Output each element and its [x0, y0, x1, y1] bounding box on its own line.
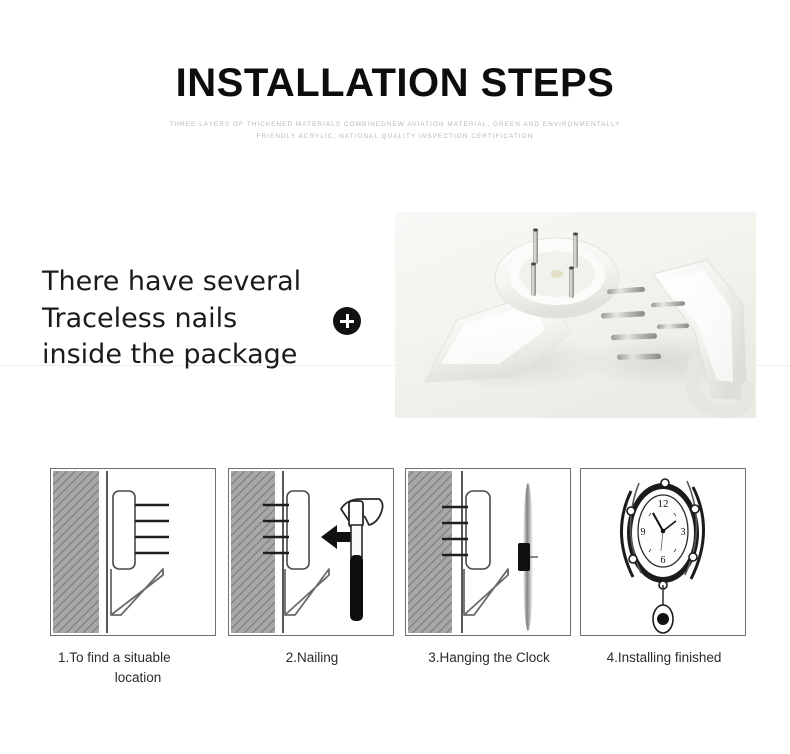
step-3-figure	[405, 468, 571, 636]
step-4-figure: 12 3 6 9	[580, 468, 746, 636]
page-header: INSTALLATION STEPS THREE LAYERS OF THICK…	[0, 62, 790, 143]
pendulum-wall-clock-icon: 12 3 6 9	[581, 469, 745, 635]
clock-side-view-hanging-icon	[406, 469, 570, 635]
page-title: INSTALLATION STEPS	[0, 62, 790, 104]
traceless-nails-photo-illustration	[395, 212, 756, 418]
wall-with-nail-plate-icon	[51, 469, 215, 635]
step-1-caption-line-1: 1.To find a situable	[58, 648, 218, 668]
product-photo	[395, 212, 756, 418]
subtitle-block: THREE LAYERS OF THICKENED MATERIALS COMB…	[0, 119, 790, 143]
step-1-figure	[50, 468, 216, 636]
step-1-caption: 1.To find a situable location	[50, 648, 218, 687]
step-3: 3.Hanging the Clock	[405, 468, 573, 668]
step-2-caption: 2.Nailing	[228, 648, 396, 668]
step-3-caption: 3.Hanging the Clock	[405, 648, 573, 668]
clock-numeral-3: 3	[681, 527, 686, 538]
step-1-caption-line-2: location	[58, 668, 218, 688]
step-4: 12 3 6 9	[580, 468, 748, 668]
step-4-caption: 4.Installing finished	[580, 648, 748, 668]
clock-numeral-6: 6	[661, 555, 666, 566]
installation-steps-row: 1.To find a situable location	[0, 468, 790, 683]
step-2-figure	[228, 468, 394, 636]
promo-text: There have several Traceless nails insid…	[42, 264, 332, 374]
hammer-driving-nails-icon	[229, 469, 393, 635]
clock-numeral-9: 9	[641, 527, 646, 538]
step-2: 2.Nailing	[228, 468, 396, 668]
promo-line-3: inside the package	[42, 337, 332, 374]
subtitle-line-2: FRIENDLY ACRYLIC, NATIONAL QUALITY INSPE…	[0, 131, 790, 143]
promo-line-1: There have several	[42, 264, 332, 301]
clock-numeral-12: 12	[658, 498, 669, 510]
plus-icon	[333, 307, 361, 335]
promo-line-2: Traceless nails	[42, 301, 332, 338]
step-1: 1.To find a situable location	[50, 468, 218, 687]
subtitle-line-1: THREE LAYERS OF THICKENED MATERIALS COMB…	[0, 119, 790, 131]
plus-icon-vertical-bar	[346, 314, 349, 328]
